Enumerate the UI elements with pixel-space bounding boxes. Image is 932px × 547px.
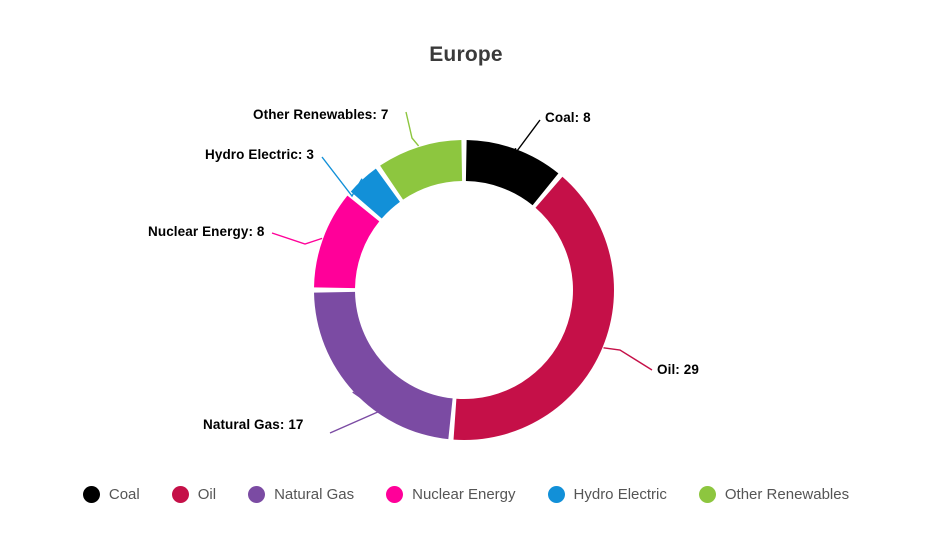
legend-swatch-hydro-electric-icon bbox=[548, 486, 565, 503]
leader-line-nuclear-energy bbox=[272, 233, 322, 244]
leader-line-coal bbox=[514, 120, 540, 155]
slice-label-nuclear-energy: Nuclear Energy: 8 bbox=[148, 224, 265, 239]
slice-label-hydro-electric: Hydro Electric: 3 bbox=[205, 147, 314, 162]
slice-label-coal: Coal: 8 bbox=[545, 110, 591, 125]
donut-slice-other-renewables[interactable] bbox=[380, 140, 462, 200]
legend-label-natural-gas: Natural Gas bbox=[274, 486, 354, 503]
donut-slice-oil[interactable] bbox=[454, 177, 614, 440]
legend-item-natural-gas[interactable]: Natural Gas bbox=[248, 486, 354, 503]
legend-swatch-natural-gas-icon bbox=[248, 486, 265, 503]
donut-slice-coal[interactable] bbox=[466, 140, 558, 205]
legend-item-nuclear-energy[interactable]: Nuclear Energy bbox=[386, 486, 515, 503]
slice-label-natural-gas: Natural Gas: 17 bbox=[203, 417, 304, 432]
chart-legend: CoalOilNatural GasNuclear EnergyHydro El… bbox=[0, 486, 932, 503]
leader-line-other-renewables bbox=[406, 112, 419, 146]
legend-item-oil[interactable]: Oil bbox=[172, 486, 216, 503]
legend-item-hydro-electric[interactable]: Hydro Electric bbox=[548, 486, 667, 503]
donut-svg bbox=[0, 0, 932, 547]
legend-label-nuclear-energy: Nuclear Energy bbox=[412, 486, 515, 503]
legend-label-oil: Oil bbox=[198, 486, 216, 503]
donut-slice-nuclear-energy[interactable] bbox=[314, 196, 379, 288]
legend-label-other-renewables: Other Renewables bbox=[725, 486, 849, 503]
legend-item-coal[interactable]: Coal bbox=[83, 486, 140, 503]
legend-item-other-renewables[interactable]: Other Renewables bbox=[699, 486, 849, 503]
slice-label-oil: Oil: 29 bbox=[657, 362, 699, 377]
legend-swatch-coal-icon bbox=[83, 486, 100, 503]
leader-line-oil bbox=[604, 348, 652, 370]
donut-chart: Europe Coal: 8 Oil: 29 Natural Gas: 17 N… bbox=[0, 0, 932, 547]
legend-swatch-other-renewables-icon bbox=[699, 486, 716, 503]
legend-label-coal: Coal bbox=[109, 486, 140, 503]
leader-line-hydro-electric bbox=[322, 157, 362, 196]
legend-label-hydro-electric: Hydro Electric bbox=[574, 486, 667, 503]
slice-label-other-renewables: Other Renewables: 7 bbox=[253, 107, 388, 122]
legend-swatch-oil-icon bbox=[172, 486, 189, 503]
donut-slice-natural-gas[interactable] bbox=[314, 292, 453, 439]
legend-swatch-nuclear-energy-icon bbox=[386, 486, 403, 503]
